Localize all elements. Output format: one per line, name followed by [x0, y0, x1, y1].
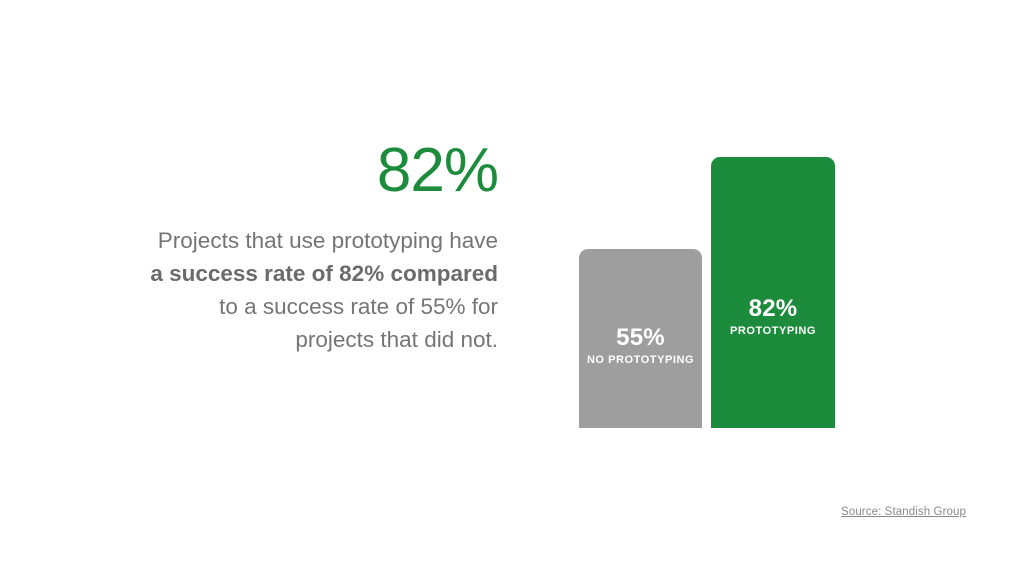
- bar-prototyping-value: 82%: [711, 295, 835, 323]
- bar-prototyping: 82% PROTOTYPING: [711, 157, 835, 428]
- bar-no-prototyping-labels: 55% NO PROTOTYPING: [579, 324, 702, 368]
- description-line-3: to a success rate of 55% for: [96, 290, 498, 323]
- bar-prototyping-caption: PROTOTYPING: [711, 324, 835, 339]
- description-line-2: a success rate of 82% compared: [96, 257, 498, 290]
- bar-prototyping-labels: 82% PROTOTYPING: [711, 295, 835, 339]
- text-panel: 82% Projects that use prototyping have a…: [96, 140, 498, 356]
- bar-no-prototyping: 55% NO PROTOTYPING: [579, 249, 702, 428]
- description-line-4: projects that did not.: [96, 323, 498, 356]
- stat-headline: 82%: [96, 140, 498, 202]
- bar-chart: 55% NO PROTOTYPING 82% PROTOTYPING: [579, 140, 835, 428]
- description-paragraph: Projects that use prototyping have a suc…: [96, 224, 498, 356]
- infographic-slide: 82% Projects that use prototyping have a…: [0, 0, 1024, 578]
- bar-group-no-prototyping: 55% NO PROTOTYPING: [579, 249, 702, 428]
- description-line-1: Projects that use prototyping have: [96, 224, 498, 257]
- bar-no-prototyping-caption: NO PROTOTYPING: [579, 353, 702, 368]
- bar-group-prototyping: 82% PROTOTYPING: [711, 157, 835, 428]
- source-attribution: Source: Standish Group: [841, 506, 966, 518]
- bar-no-prototyping-value: 55%: [579, 324, 702, 352]
